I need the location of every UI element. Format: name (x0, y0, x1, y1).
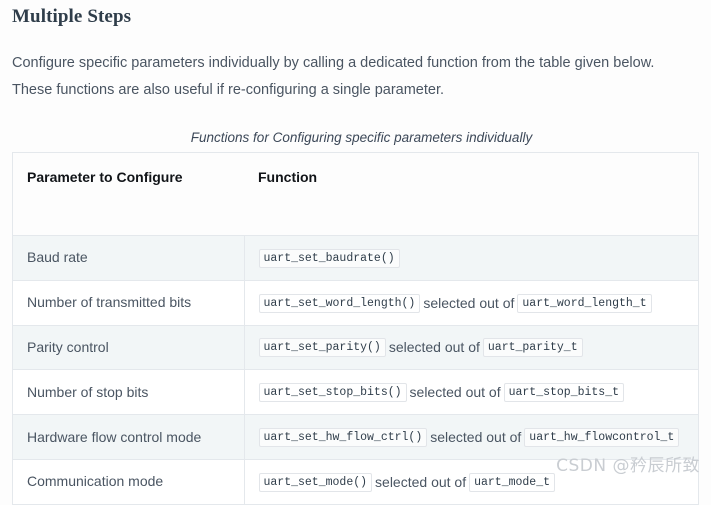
type-code: uart_hw_flowcontrol_t (524, 428, 679, 447)
row-parameter-label: Parity control (13, 325, 244, 370)
function-code: uart_set_mode() (259, 473, 373, 492)
table-header-row: Parameter to Configure Function (13, 153, 698, 236)
row-function-cell: uart_set_hw_flow_ctrl()selected out ofua… (244, 415, 698, 460)
type-code: uart_stop_bits_t (504, 383, 624, 402)
type-code: uart_mode_t (469, 473, 555, 492)
connector-label: selected out of (386, 339, 483, 355)
table-row: Baud rate uart_set_baudrate() (13, 236, 698, 281)
table-caption: Functions for Configuring specific param… (12, 130, 699, 145)
page-title: Multiple Steps (12, 0, 699, 28)
type-code: uart_word_length_t (517, 294, 651, 313)
row-parameter-label: Communication mode (13, 459, 244, 504)
function-expression: uart_set_mode()selected out ofuart_mode_… (259, 471, 685, 493)
row-parameter-label: Baud rate (13, 236, 244, 281)
table-row: Number of stop bits uart_set_stop_bits()… (13, 370, 698, 415)
function-code: uart_set_parity() (259, 338, 386, 357)
row-parameter-label: Number of transmitted bits (13, 280, 244, 325)
function-expression: uart_set_word_length()selected out ofuar… (259, 292, 685, 314)
connector-label: selected out of (420, 295, 517, 311)
row-parameter-label: Hardware flow control mode (13, 415, 244, 460)
column-header-parameter: Parameter to Configure (13, 153, 244, 236)
table-row: Communication mode uart_set_mode()select… (13, 459, 698, 504)
row-function-cell: uart_set_parity()selected out ofuart_par… (244, 325, 698, 370)
function-code: uart_set_stop_bits() (259, 383, 407, 402)
function-expression: uart_set_stop_bits()selected out ofuart_… (259, 381, 685, 403)
function-code: uart_set_hw_flow_ctrl() (259, 428, 428, 447)
table-head: Parameter to Configure Function (13, 153, 698, 236)
row-function-cell: uart_set_baudrate() (244, 236, 698, 281)
row-function-cell: uart_set_stop_bits()selected out ofuart_… (244, 370, 698, 415)
parameters-table-container: Parameter to Configure Function Baud rat… (12, 152, 699, 505)
row-parameter-label: Number of stop bits (13, 370, 244, 415)
row-function-cell: uart_set_word_length()selected out ofuar… (244, 280, 698, 325)
function-expression: uart_set_hw_flow_ctrl()selected out ofua… (259, 426, 685, 448)
connector-label: selected out of (372, 474, 469, 490)
connector-label: selected out of (427, 429, 524, 445)
table-row: Parity control uart_set_parity()selected… (13, 325, 698, 370)
document-page: Multiple Steps Configure specific parame… (0, 0, 711, 487)
function-code: uart_set_baudrate() (259, 249, 400, 268)
intro-paragraph: Configure specific parameters individual… (12, 50, 672, 104)
parameters-table: Parameter to Configure Function Baud rat… (13, 153, 698, 505)
function-expression: uart_set_parity()selected out ofuart_par… (259, 337, 685, 359)
table-row: Hardware flow control mode uart_set_hw_f… (13, 415, 698, 460)
table-body: Baud rate uart_set_baudrate() Number of … (13, 236, 698, 505)
function-code: uart_set_word_length() (259, 294, 421, 313)
table-row: Number of transmitted bits uart_set_word… (13, 280, 698, 325)
function-expression: uart_set_baudrate() (259, 247, 685, 269)
row-function-cell: uart_set_mode()selected out ofuart_mode_… (244, 459, 698, 504)
column-header-function: Function (244, 153, 698, 236)
type-code: uart_parity_t (483, 338, 583, 357)
connector-label: selected out of (407, 384, 504, 400)
